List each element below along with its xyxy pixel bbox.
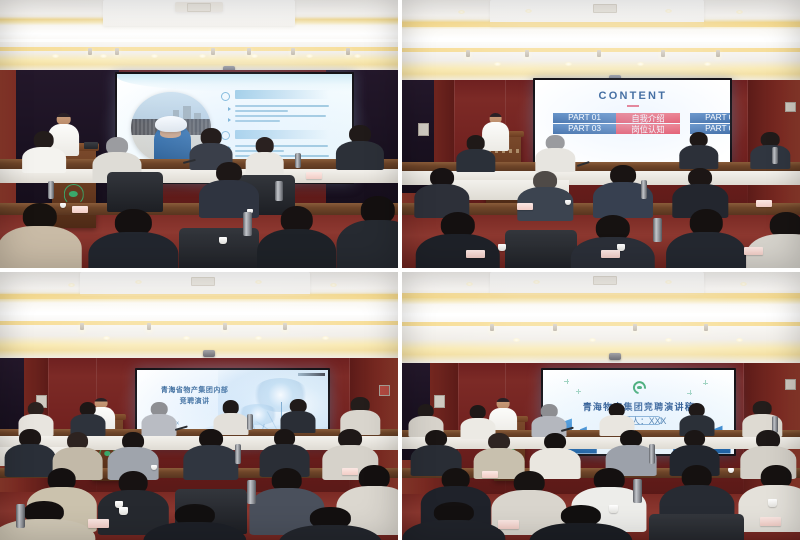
podium-text (55, 165, 92, 170)
projection-screen-frame: 青海物产集团竞聘演讲稿 演讲人：XXX 青海省物产集团有限公司 (541, 368, 736, 455)
ceiling-downlight (458, 10, 465, 14)
ceiling-downlight (513, 338, 520, 342)
ceiling-downlight (736, 10, 743, 14)
safety-helmet (155, 116, 187, 132)
city-skyline-right (673, 414, 730, 454)
ceiling-coffer (490, 0, 705, 26)
speaker-body (490, 408, 518, 437)
cove-light-band (0, 321, 398, 325)
wall-seam (349, 358, 350, 505)
track-spotlight (661, 50, 665, 57)
slide-title: 青海物产集团竞聘演讲稿 (543, 400, 734, 413)
wall-fixture-icon (36, 395, 47, 408)
slide-title-city: 青海物产集团竞聘演讲稿 演讲人：XXX 青海省物产集团有限公司 (543, 370, 734, 453)
slide-presenter-pill: 演讲人：XXX (618, 416, 662, 425)
sparkle-icon (576, 389, 581, 394)
slide-heading-icon-2 (221, 131, 230, 140)
wall-seam (743, 363, 744, 510)
projection-screen-frame (115, 72, 354, 183)
cove-light-band (402, 322, 800, 326)
cove-light-band (402, 293, 800, 298)
ceiling-downlight (740, 282, 747, 286)
ceiling-downlight (466, 282, 473, 286)
track-spotlight (115, 48, 119, 55)
slide-title-line-1: 青海省物产集团内部 (149, 386, 241, 397)
track-spotlight (147, 323, 151, 330)
ceiling-downlight (255, 280, 262, 284)
slide-title-dandelion: 青海省物产集团内部 竞聘演讲 汇报人：XXX 2024-07-02 (137, 370, 328, 442)
ceiling-downlight (255, 336, 262, 340)
slide-bullet (117, 74, 352, 181)
stage-floor (402, 494, 800, 540)
agenda-part-03: PART 03 岗位认知 (553, 124, 680, 134)
track-spotlight (704, 324, 708, 331)
ceiling-downlight (100, 54, 107, 58)
speaker (88, 398, 116, 433)
photo-grid: CONTENT PART 01 自我介绍 PART 02 工作成绩 PART 0… (0, 0, 800, 540)
slide-title-underline (627, 105, 639, 107)
track-spotlight (490, 324, 494, 331)
sparkle-icon (687, 390, 692, 395)
ceiling (402, 0, 800, 86)
slide-heading-bar-2 (235, 130, 329, 139)
part-number: PART 01 (553, 113, 616, 123)
ceiling (0, 272, 398, 363)
track-spotlight (223, 323, 227, 330)
podium-logo-icon (502, 448, 517, 463)
dandelion-artwork-small (237, 404, 279, 442)
wall-seam (48, 358, 49, 505)
ceiling-downlight (665, 9, 672, 13)
speaker-body (48, 124, 80, 157)
speaker-body (482, 122, 510, 151)
ceiling-soffit (0, 39, 398, 42)
stage-curtain-left (402, 80, 434, 193)
track-spotlight (88, 48, 92, 55)
agenda-part-01: PART 01 自我介绍 (553, 113, 680, 123)
part-number: PART 04 (690, 124, 731, 134)
ceiling-downlight (52, 54, 59, 58)
slide-corner-tag (298, 373, 325, 377)
part-number: PART 03 (553, 124, 616, 134)
speaker (482, 113, 510, 151)
wall-fixture-icon (418, 123, 429, 136)
ceiling-downlight (637, 62, 644, 66)
stage-floor (402, 214, 800, 268)
stage-curtain-left (402, 363, 430, 459)
ceiling-downlight (151, 54, 158, 58)
wall-fixture-icon (379, 385, 390, 396)
track-spotlight (716, 50, 720, 57)
track-spotlight (525, 50, 529, 57)
ceiling-downlight (589, 338, 596, 342)
stage-floor (0, 492, 398, 540)
photo-panel-top-left (0, 0, 398, 268)
slide-circular-photo (131, 92, 211, 165)
stage-curtain-left (0, 358, 24, 460)
ceiling-downlight (665, 280, 672, 284)
track-spotlight (283, 323, 287, 330)
projection-screen-frame: 青海省物产集团内部 竞聘演讲 汇报人：XXX 2024-07-02 (135, 368, 330, 444)
wall-fixture-icon (785, 102, 796, 112)
ceiling-vent (187, 3, 211, 12)
slide-organization: 青海省物产集团有限公司 (543, 427, 734, 437)
wall-fixture-icon (434, 395, 445, 408)
ceiling-downlight (494, 62, 501, 66)
photo-panel-top-right: CONTENT PART 01 自我介绍 PART 02 工作成绩 PART 0… (402, 0, 800, 268)
ceiling-downlight (68, 283, 75, 287)
track-spotlight (291, 48, 295, 55)
ceiling (0, 0, 398, 75)
part-label: 岗位认知 (616, 124, 680, 134)
ceiling-downlight (525, 9, 532, 13)
track-spotlight (346, 48, 350, 55)
ceiling-coffer (490, 272, 705, 295)
sparkle-icon (703, 380, 708, 385)
slide-decor-top (117, 74, 352, 91)
ceiling-coffer (103, 0, 294, 26)
photo-panel-bottom-right: 青海物产集团竞聘演讲稿 演讲人：XXX 青海省物产集团有限公司 (402, 272, 800, 540)
ceiling-downlight (322, 336, 329, 340)
projection-screen-frame: CONTENT PART 01 自我介绍 PART 02 工作成绩 PART 0… (533, 78, 732, 165)
wall-fixture-icon (785, 379, 796, 390)
photo-panel-bottom-left: 青海省物产集团内部 竞聘演讲 汇报人：XXX 2024-07-02 (0, 272, 398, 540)
ceiling-downlight (135, 280, 142, 284)
ceiling-downlight (665, 338, 672, 342)
slide-title: CONTENT (535, 90, 730, 102)
ceiling-vent (191, 277, 215, 286)
ceiling-projector (203, 350, 215, 357)
ceiling-downlight (736, 338, 743, 342)
dandelion-puff (237, 404, 279, 425)
podium-logo-icon (495, 166, 512, 183)
ceiling-downlight (103, 336, 110, 340)
ceiling (402, 272, 800, 368)
cove-light-band (0, 47, 398, 51)
podium (52, 147, 96, 227)
track-spotlight (247, 48, 251, 55)
slide-subtitle: 汇报人：XXX 2024-07-02 (153, 418, 214, 442)
ceiling-downlight (704, 62, 711, 66)
agenda-parts: PART 01 自我介绍 PART 02 工作成绩 PART 03 岗位认知 P… (553, 113, 713, 133)
slide-title: 青海省物产集团内部 竞聘演讲 (149, 386, 241, 408)
ceiling-projector (609, 353, 621, 360)
cove-light-band (0, 294, 398, 299)
part-number: PART 02 (690, 113, 731, 123)
slide-heading-icon (221, 92, 230, 101)
ceiling-vent (593, 276, 617, 285)
podium-logo-icon (100, 446, 115, 461)
slide-content-agenda: CONTENT PART 01 自我介绍 PART 02 工作成绩 PART 0… (535, 80, 730, 163)
wall-seam (458, 363, 459, 510)
wall-seam (454, 80, 455, 227)
podium-laptop (84, 142, 98, 149)
ceiling-downlight (306, 54, 313, 58)
slide-title-line-2: 竞聘演讲 (149, 397, 241, 408)
ceiling-soffit (402, 313, 800, 316)
track-spotlight (466, 50, 470, 57)
ceiling-downlight (565, 62, 572, 66)
podium-logo-icon (63, 184, 83, 204)
ceiling-downlight (251, 54, 258, 58)
ceiling-downlight (354, 54, 361, 58)
part-label: 自我介绍 (616, 113, 680, 123)
sparkle-icon (564, 379, 569, 384)
cove-light-band (402, 22, 800, 27)
slide-presenter: 汇报人：XXX (153, 420, 191, 427)
ceiling-downlight (199, 54, 206, 58)
ceiling-downlight (183, 336, 190, 340)
ceiling-coffer (80, 272, 311, 296)
speaker (490, 398, 518, 436)
slide-heading-bar-1 (235, 90, 329, 99)
wall-seam (747, 80, 748, 227)
ceiling-soffit (0, 312, 398, 315)
speaker (48, 113, 80, 156)
track-spotlight (597, 50, 601, 57)
agenda-part-02: PART 02 工作成绩 (690, 113, 731, 123)
ceiling-vent (593, 4, 617, 13)
speaker-body (88, 407, 116, 433)
track-spotlight (633, 324, 637, 331)
ceiling-soffit (402, 39, 800, 42)
ceiling-downlight (330, 283, 337, 287)
track-spotlight (211, 48, 215, 55)
ceiling-downlight (533, 280, 540, 284)
slide-bullets-group-1 (235, 105, 334, 125)
company-logo-icon (633, 381, 646, 394)
slide-bullets-group-2 (235, 145, 334, 165)
ceiling-coffer-inner (175, 2, 223, 13)
track-spotlight (80, 323, 84, 330)
cove-light-band (402, 48, 800, 52)
track-spotlight (553, 324, 557, 331)
slide-date: 2024-07-02 (153, 432, 191, 439)
agenda-part-04: PART 04 未来设想 (690, 124, 731, 134)
